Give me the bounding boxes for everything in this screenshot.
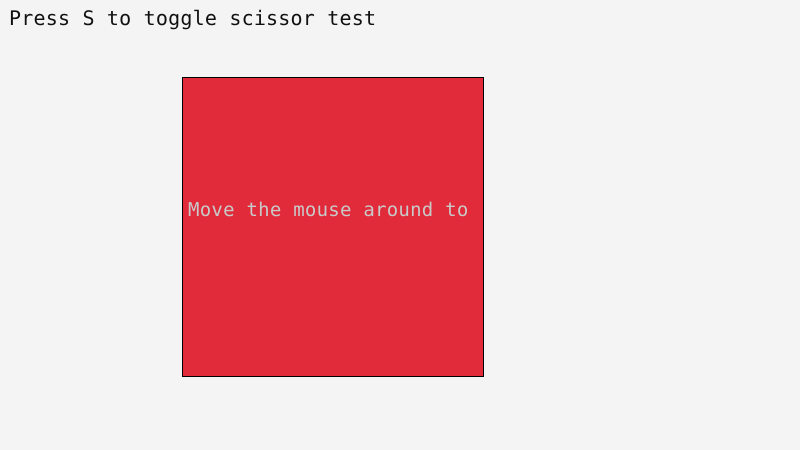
scissor-test-rect[interactable]: Move the mouse around to r [182,77,484,377]
scissor-clipped-label: Move the mouse around to r [188,199,484,221]
page-title: Press S to toggle scissor test [9,6,376,30]
app-canvas[interactable]: Press S to toggle scissor test Move the … [0,0,800,450]
